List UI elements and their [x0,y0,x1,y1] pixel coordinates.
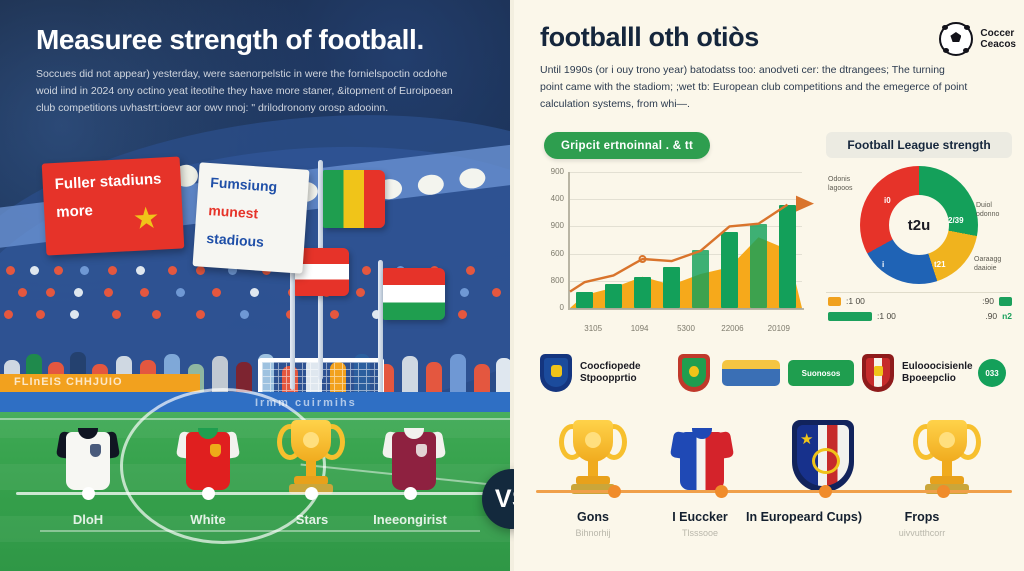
donut-value-yellow: t21 [934,260,946,269]
banner-white-line1: Fumsiung [210,175,278,195]
right-timeline-label-3-title: In Europeard Cups) [739,510,869,524]
blue-shield-icon [540,354,572,392]
right-timeline [536,490,1012,494]
donut-label-green: Duiol odonno [976,202,1012,220]
left-body: Soccues did not appear) yesterday, were … [36,66,456,117]
donut-value-red: i0 [884,196,891,205]
right-timeline-label-4: Frops uivvutthcorr [857,510,987,538]
right-timeline-node-1[interactable] [608,485,621,498]
advertising-board-orange: FLInEIS CHHJUIO [0,374,200,392]
timeline-shield: ★ [792,420,854,492]
badge-eurocoefficient[interactable]: Eulooocisienle Bpoeepclio [862,354,973,392]
right-body: Until 1990s (or i ouy trono year) batoda… [540,62,970,113]
legend-swatch-1b [999,297,1012,306]
green-shield-icon [678,354,710,392]
chart-y-tick: 800 [551,276,564,285]
left-timeline-node-4[interactable] [404,487,417,500]
pitch-line-bottom [40,530,480,532]
legend-row-2: :1 00 .90 n2 [828,311,1012,321]
donut-value-blue: i [882,260,884,269]
chart-x-tick: 20109 [756,324,802,333]
banner-white-line3: stadious [206,231,264,250]
donut-title: Football League strength [826,132,1012,158]
legend-value-1: :90 [982,296,994,306]
right-timeline-node-4[interactable] [937,485,950,498]
chart-trend-line [570,172,814,308]
chart-y-tick: 900 [551,167,564,176]
left-timeline-label-2: White [148,512,268,527]
legend-separator [826,292,1010,293]
legend-swatch-1 [828,297,841,306]
brand-logo-line1: Coccer [980,28,1016,40]
left-timeline-node-2[interactable] [202,487,215,500]
left-timeline-label-4: Ineeongirist [350,512,470,527]
badge-coefficient[interactable]: Coocfiopede Stpoopprtio [540,354,641,392]
legend-label-1: :1 00 [846,296,865,306]
donut-value-green: 2/39 [948,216,964,225]
donut-chart: t2u [860,166,978,284]
chart-x-tick: 1094 [617,324,663,333]
right-timeline-node-2[interactable] [715,485,728,498]
legend-label-2: :1 00 [877,311,896,321]
chart-title-badge: Gripcit ertnoinnal . & tt [544,132,710,159]
soccer-ball-icon [939,22,973,56]
legend-row-1: :1 00 :90 [828,296,1012,306]
legend-extra-2: n2 [1002,311,1012,321]
chart-y-tick: 900 [551,221,564,230]
banner-white: Fumsiung munest stadious [193,162,310,273]
chip-blue[interactable] [722,360,780,386]
chip-green[interactable]: Suonosos [788,360,854,386]
red-shield-icon [862,354,894,392]
left-panel: Fuller stadiuns more ★ Fumsiung munest s… [0,0,512,571]
right-timeline-label-3: In Europeard Cups) [739,510,869,528]
donut-legend: :1 00 :90 :1 00 .90 n2 [828,296,1012,326]
brand-logo-text: Coccer Ceacos [980,28,1016,51]
left-timeline-node-1[interactable] [82,487,95,500]
badge-green-shield[interactable] [678,354,710,392]
banner-white-line2: munest [208,203,259,222]
jersey-red [178,424,238,490]
right-timeline-label-4-sub: uivvutthcorr [857,528,987,538]
left-title: Measuree strength of football. [36,24,476,56]
right-timeline-label-2-sub: Tlsssooe [635,528,765,538]
trophy-gold-left [278,418,344,498]
chart-x-tick: 3105 [570,324,616,333]
donut-center-label: t2u [889,195,949,255]
left-timeline [0,492,512,496]
right-header: footballl oth otiòs Until 1990s (or i ou… [540,22,1004,113]
timeline-jersey [672,424,732,490]
badge-coefficient-text: Coocfiopede Stpoopprtio [580,361,641,385]
banner-red-line2: more [56,203,93,221]
growth-chart-plot: 9004009006008000 3105109453002200620109 [570,172,802,308]
growth-chart-card: Gripcit ertnoinnal . & tt 90040090060080… [536,128,812,346]
brand-logo-line2: Ceacos [980,39,1016,51]
right-timeline-label-4-title: Frops [857,510,987,524]
chart-x-tick: 22006 [709,324,755,333]
league-strength-card: Football League strength t2u Odonis lago… [826,128,1012,346]
banner-red: Fuller stadiuns more ★ [42,156,185,255]
legend-value-2: .90 [985,311,997,321]
right-timeline-node-3[interactable] [819,485,832,498]
badge-coefficient-line1: Coocfiopede [580,361,641,373]
right-title: footballl oth otiòs [540,22,1004,53]
legend-swatch-2 [828,312,872,321]
banner-red-line1: Fuller stadiuns [54,171,161,193]
donut-label-yellow: Oaraagg daaioie [974,256,1012,274]
jersey-maroon [384,424,444,490]
jersey-white [58,424,118,490]
infographic-canvas: Fuller stadiuns more ★ Fumsiung munest s… [0,0,1024,571]
left-timeline-node-3[interactable] [305,487,318,500]
chart-x-tick: 5300 [663,324,709,333]
badge-eurocoefficient-line1: Eulooocisienle [902,361,973,373]
advertising-board-orange-text: FLInEIS CHHJUIO [14,376,123,388]
brand-logo: Coccer Ceacos [939,22,1016,56]
left-timeline-label-1: DloH [28,512,148,527]
badge-eurocoefficient-text: Eulooocisienle Bpoeepclio [902,361,973,385]
badge-coefficient-line2: Stpoopprtio [580,373,641,385]
badge-eurocoefficient-line2: Bpoeepclio [902,373,973,385]
left-header: Measuree strength of football. Soccues d… [36,24,476,117]
chart-y-tick: 600 [551,249,564,258]
donut-label-red: Odonis lagooos [828,176,868,194]
circle-badge[interactable]: 033 [978,359,1006,387]
badge-row: Coocfiopede Stpoopprtio Suonosos Euloooc… [536,352,1012,396]
chart-y-tick: 400 [551,194,564,203]
right-panel: footballl oth otiòs Until 1990s (or i ou… [514,0,1024,571]
chart-y-tick: 0 [560,303,564,312]
